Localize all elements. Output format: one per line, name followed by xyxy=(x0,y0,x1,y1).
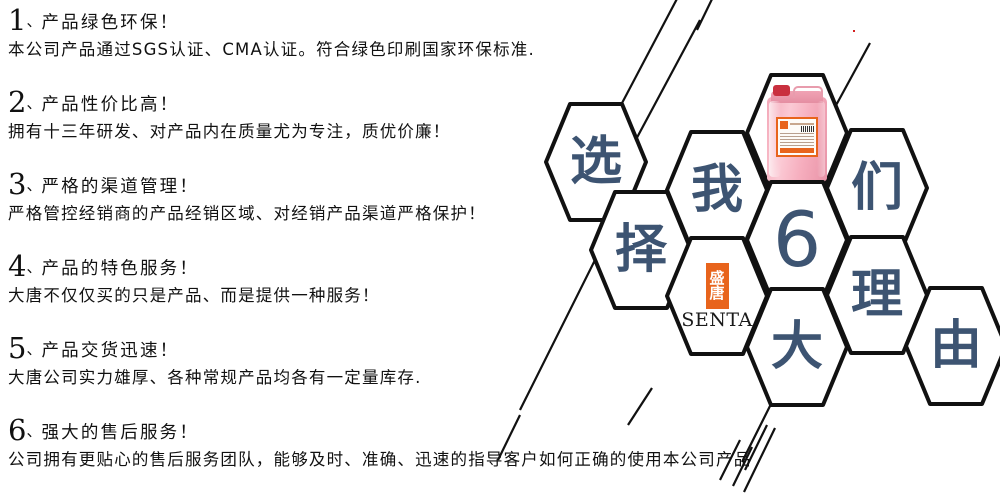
product-image xyxy=(765,83,829,181)
label-footer-band xyxy=(780,148,814,153)
red-speck xyxy=(853,30,855,32)
reason-separator: 、 xyxy=(26,94,41,112)
reason-body: 拥有十三年研发、对产品内在质量尤为专注，质优价廉！ xyxy=(8,123,451,142)
label-logo-icon xyxy=(780,121,788,129)
reason-body: 本公司产品通过SGS认证、CMA认证。符合绿色印刷国家环保标准. xyxy=(8,41,535,60)
reason-number: 5 xyxy=(8,331,26,365)
reason-heading: 5、产品交货迅速！ xyxy=(8,334,422,363)
reason-item: 1、产品绿色环保！ 本公司产品通过SGS认证、CMA认证。符合绿色印刷国家环保标… xyxy=(8,6,535,60)
hexagon-cluster: 选 择 我 盛 唐 SENTA xyxy=(500,60,1000,460)
reason-separator: 、 xyxy=(26,422,41,440)
reason-item: 2、产品性价比高！ 拥有十三年研发、对产品内在质量尤为专注，质优价廉！ xyxy=(8,88,451,142)
brand-seal-char-bottom: 唐 xyxy=(709,286,724,301)
reason-number: 1 xyxy=(8,3,26,37)
hex-cell-you[interactable]: 由 xyxy=(904,286,1000,406)
reason-item: 4、产品的特色服务！ 大唐不仅仅买的只是产品、而是提供一种服务！ xyxy=(8,252,380,306)
reason-title: 产品性价比高！ xyxy=(41,95,179,115)
reason-title: 产品绿色环保！ xyxy=(41,13,179,33)
reason-number: 2 xyxy=(8,85,26,119)
reason-heading: 2、产品性价比高！ xyxy=(8,88,451,117)
reason-body: 严格管控经销商的产品经销区域、对经销产品渠道严格保护！ xyxy=(8,205,486,224)
reason-title: 产品的特色服务！ xyxy=(41,259,199,279)
reason-separator: 、 xyxy=(26,176,41,194)
reason-body: 大唐公司实力雄厚、各种常规产品均各有一定量库存. xyxy=(8,369,422,388)
poster-canvas: 1、产品绿色环保！ 本公司产品通过SGS认证、CMA认证。符合绿色印刷国家环保标… xyxy=(0,0,1000,500)
reason-separator: 、 xyxy=(26,340,41,358)
hex-label: 由 xyxy=(904,286,1000,406)
barcode-icon xyxy=(801,126,814,132)
reason-separator: 、 xyxy=(26,12,41,30)
hex-label: 们 xyxy=(825,128,929,248)
reason-number: 6 xyxy=(8,413,26,447)
reason-body: 大唐不仅仅买的只是产品、而是提供一种服务！ xyxy=(8,287,380,306)
reason-number: 4 xyxy=(8,249,26,283)
drum-handle-icon xyxy=(793,86,823,98)
reason-heading: 4、产品的特色服务！ xyxy=(8,252,380,281)
hex-cell-men[interactable]: 们 xyxy=(825,128,929,248)
reason-number: 3 xyxy=(8,167,26,201)
reason-item: 3、严格的渠道管理！ 严格管控经销商的产品经销区域、对经销产品渠道严格保护！ xyxy=(8,170,486,224)
label-header xyxy=(780,121,814,131)
product-label xyxy=(776,117,818,157)
reason-title: 严格的渠道管理！ xyxy=(41,177,199,197)
drum-cap-icon xyxy=(773,85,790,96)
reason-title: 强大的售后服务！ xyxy=(41,423,199,443)
reason-title: 产品交货迅速！ xyxy=(41,341,179,361)
drum-highlight-right xyxy=(817,101,825,177)
reason-heading: 1、产品绿色环保！ xyxy=(8,6,535,35)
reason-heading: 3、严格的渠道管理！ xyxy=(8,170,486,199)
reason-item: 5、产品交货迅速！ 大唐公司实力雄厚、各种常规产品均各有一定量库存. xyxy=(8,334,422,388)
brand-name: SENTA xyxy=(681,311,752,330)
brand-seal-icon: 盛 唐 xyxy=(706,263,729,309)
reason-separator: 、 xyxy=(26,258,41,276)
